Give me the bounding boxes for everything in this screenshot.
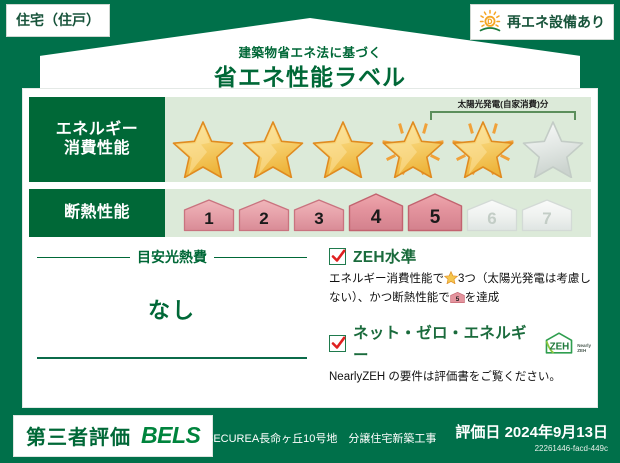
zeh-logo-sub: Nearly ZEH [577,344,591,355]
zeh-netzero-description: NearlyZEH の要件は評価書をご覧ください。 [329,369,591,386]
insulation-level-7: 7 [521,199,573,232]
energy-label-line1: エネルギー [56,121,139,140]
energy-performance-row: エネルギー 消費性能 太陽光発電(自家消費)分 [29,97,591,182]
utility-cost-heading-label: 目安光熱費 [137,247,207,267]
zeh-standard-description: エネルギー消費性能で3つ（太陽光発電は考慮しない）、かつ断熱性能で5を達成 [329,271,591,309]
star-filled-solar-4 [381,116,445,178]
sun-renewable-icon [477,9,503,35]
insulation-level-scale: 1 2 3 [165,189,591,237]
svg-text:ZEH: ZEH [550,342,570,353]
solar-annotation-label: 太陽光発電(自家消費)分 [427,98,579,110]
zeh-desc-part3: を達成 [465,292,500,304]
utility-cost-value: なし [37,293,307,325]
star-filled-1 [171,116,235,178]
insulation-level-1: 1 [183,199,235,232]
insulation-level-label-1: 1 [204,209,213,229]
insulation-level-2: 2 [238,199,290,232]
svg-text:5: 5 [455,296,459,303]
insulation-level-label-6: 6 [487,209,496,229]
badge-renewable-energy: 再エネ設備あり [470,4,614,40]
inline-insulation-level-icon: 5 [450,291,465,310]
zeh-logo-icon: ZEH Nearly ZEH [542,331,591,355]
evaluation-date-block: 評価日 2024年9月13日 22261446-facd-449c [455,421,608,453]
zeh-netzero-heading: ネット・ゼロ・エネルギー ZEH Nearly ZEH [329,321,591,365]
insulation-level-4: 4 [348,193,404,232]
insulation-level-3: 3 [293,199,345,232]
zeh-logo-sub-line2: ZEH [577,348,586,353]
zeh-standard-heading: ZEH水準 [329,245,591,267]
insulation-level-6: 6 [466,199,518,232]
rule-left [37,257,130,258]
star-rating [165,114,591,180]
main-card: エネルギー 消費性能 太陽光発電(自家消費)分 [22,88,598,408]
insulation-level-label-7: 7 [542,209,551,229]
zeh-netzero-title: ネット・ゼロ・エネルギー [353,321,531,365]
insulation-level-label-4: 4 [371,207,382,229]
zeh-block: ZEH水準 エネルギー消費性能で3つ（太陽光発電は考慮しない）、かつ断熱性能で5… [329,245,591,398]
insulation-level-label-2: 2 [259,209,268,229]
star-filled-2 [241,116,305,178]
utility-cost-block: 目安光熱費 なし [37,247,307,359]
footer-bar: 第三者評価 BELS SECUREA長命ヶ丘10号地 分譲住宅新築工事 評価日 … [0,408,620,463]
star-empty-6 [521,116,585,178]
star-filled-solar-5 [451,116,515,178]
badge-renewable-label: 再エネ設備あり [507,12,605,32]
utility-cost-heading: 目安光熱費 [37,247,307,267]
inline-star-icon [444,271,458,290]
evaluation-date: 評価日 2024年9月13日 [455,421,608,442]
bels-logo-en: BELS [141,422,200,449]
star-filled-3 [311,116,375,178]
checkbox-checked-icon[interactable] [329,248,346,265]
energy-performance-label: エネルギー 消費性能 [29,97,165,182]
zeh-item-standard: ZEH水準 エネルギー消費性能で3つ（太陽光発電は考慮しない）、かつ断熱性能で5… [329,245,591,309]
rule-right [214,257,307,258]
bels-logo: 第三者評価 BELS [13,415,213,457]
energy-label-line2: 消費性能 [64,140,130,159]
badge-housing-type: 住宅（住戸） [6,4,110,37]
checkbox-checked-icon[interactable] [329,335,346,352]
utility-cost-divider [37,357,307,359]
insulation-level-5: 5 [407,193,463,232]
energy-performance-body: 太陽光発電(自家消費)分 [165,97,591,182]
certificate-id: 22261446-facd-449c [455,444,608,453]
insulation-performance-label: 断熱性能 [29,189,165,237]
bels-energy-label: 建築物省エネ法に基づく 省エネ性能ラベル 住宅（住戸） [0,0,620,463]
zeh-item-net-zero: ネット・ゼロ・エネルギー ZEH Nearly ZEH NearlyZEH [329,321,591,386]
zeh-desc-part1: エネルギー消費性能で [329,273,444,285]
insulation-performance-body: 1 2 3 [165,189,591,237]
bels-logo-jp: 第三者評価 [26,421,131,450]
insulation-performance-row: 断熱性能 [29,189,591,237]
zeh-standard-title: ZEH水準 [353,245,417,267]
insulation-level-label-3: 3 [314,209,323,229]
building-name: SECUREA長命ヶ丘10号地 分譲住宅新築工事 [206,430,436,446]
insulation-level-label-5: 5 [430,207,441,229]
page-title: 省エネ性能ラベル [0,58,620,92]
